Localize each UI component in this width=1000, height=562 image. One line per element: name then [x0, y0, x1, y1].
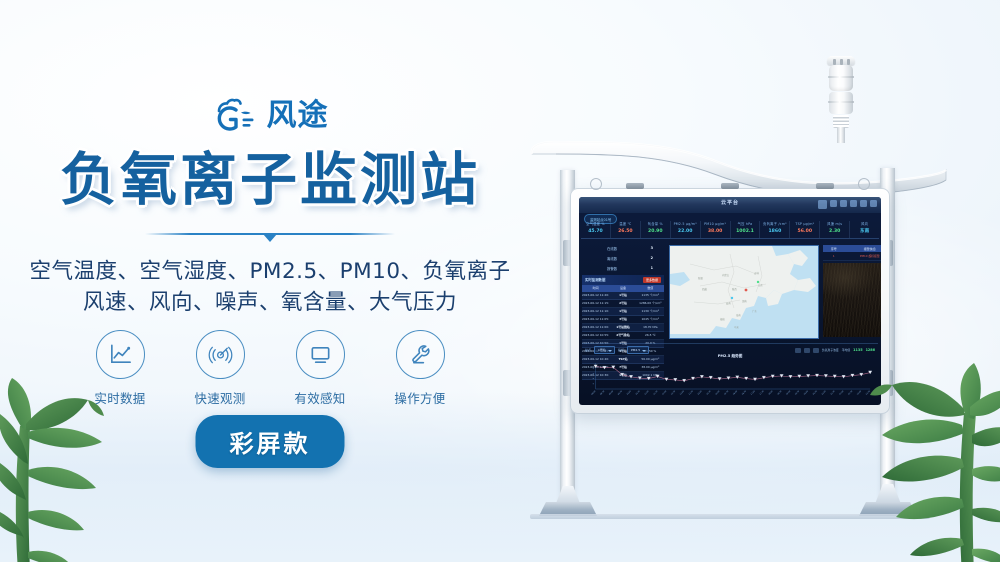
feature-label: 实时数据 — [89, 388, 151, 407]
status-value: 1 — [651, 266, 653, 271]
metric-card[interactable]: 氧含量 % 20.90 — [641, 221, 671, 238]
page-title: 负氧离子监测站 — [0, 150, 540, 212]
chart-icon[interactable] — [830, 200, 837, 207]
svg-text:22:30: 22:30 — [848, 390, 854, 396]
svg-text:陕西: 陕西 — [732, 287, 737, 291]
svg-text:22:00: 22:00 — [839, 390, 845, 396]
status-value: 3 — [651, 246, 653, 251]
left-content: 风途 负氧离子监测站 空气温度、空气湿度、PM2.5、PM10、负氧离子 风速、… — [0, 0, 540, 562]
svg-text:21:30: 21:30 — [830, 390, 836, 396]
svg-text:13:30: 13:30 — [689, 390, 695, 396]
metric-dropdown[interactable]: PM2.5 — [627, 346, 649, 354]
gear-icon[interactable] — [840, 200, 847, 207]
frame-tab — [721, 183, 739, 189]
metric-value: 22.00 — [671, 227, 700, 236]
alarm-row[interactable]: 1 PM10 超标报警 — [823, 252, 881, 261]
svg-text:新疆: 新疆 — [698, 276, 703, 280]
svg-text:14:30: 14:30 — [706, 390, 712, 396]
chart-average-value: 1286 — [866, 348, 875, 352]
table-row[interactable]: 2023-06-12 11:00:10 1号站微站 18.70 hPa — [582, 324, 664, 332]
line-chart-icon — [96, 330, 145, 379]
feature-list: 实时数据 快速观测 — [0, 330, 540, 407]
trend-chart[interactable]: 08:0008:3009:0009:3010:0010:3011:0011:30… — [586, 360, 874, 398]
table-row[interactable]: 2023-06-12 11:20:10 1号站 1135 个/cm³ — [582, 292, 664, 300]
wrench-icon — [396, 330, 445, 379]
svg-text:广东: 广东 — [752, 309, 757, 313]
metric-value: 东南 — [850, 227, 879, 236]
svg-text:17:00: 17:00 — [751, 390, 757, 396]
metric-value: 1002.1 — [731, 227, 760, 236]
status-summary: 在线数 3 离线数 2 报警数 1 — [585, 243, 661, 274]
svg-text:19:00: 19:00 — [786, 390, 792, 396]
svg-text:09:00: 09:00 — [609, 390, 615, 396]
metric-card[interactable]: 风速 m/s 2.30 — [820, 221, 850, 238]
svg-text:内蒙古: 内蒙古 — [722, 273, 730, 277]
table-columns: 时间 设备 数值 — [582, 285, 664, 292]
metrics-divider — [581, 238, 879, 239]
feature-label: 有效感知 — [289, 388, 351, 407]
feature-item-effective-sensing[interactable]: 有效感知 — [289, 330, 351, 407]
svg-text:山东: 山东 — [758, 283, 763, 287]
svg-text:08:00: 08:00 — [591, 390, 597, 396]
subtitle-line-2: 风速、风向、噪声、氧含量、大气压力 — [0, 287, 540, 318]
divider-triangle-icon — [263, 234, 277, 242]
monitoring-station-kiosk: 云平台 监测站点01号 空气湿度 % 45.70 温度 ℃ — [500, 40, 970, 540]
status-label: 报警数 — [607, 266, 617, 271]
metric-value: 20.90 — [641, 227, 670, 236]
alarm-icon[interactable] — [860, 200, 867, 207]
model-badge-label: 彩屏款 — [230, 430, 311, 458]
feature-label: 快速观测 — [189, 388, 251, 407]
svg-text:18:30: 18:30 — [777, 390, 783, 396]
ground-line — [530, 514, 930, 519]
svg-text:11:00: 11:00 — [644, 390, 650, 396]
svg-text:11:30: 11:30 — [653, 390, 659, 396]
subtitle-line-1: 空气温度、空气湿度、PM2.5、PM10、负氧离子 — [0, 256, 540, 287]
model-badge[interactable]: 彩屏款 — [196, 415, 345, 468]
column-header: 时间 — [582, 285, 609, 292]
table-header: 实时监测数据 更多数据 — [582, 275, 664, 285]
chart-filter-label: 指标 — [618, 348, 624, 352]
svg-text:19:30: 19:30 — [795, 390, 801, 396]
site-camera-feed[interactable] — [823, 263, 881, 337]
table-row[interactable]: 2023-06-12 10:55:10 2号气象站 26.5 ℃ — [582, 332, 664, 340]
svg-text:吉林: 吉林 — [754, 271, 759, 275]
distribution-map[interactable]: 新疆内蒙古 西藏陕西 吉林山东 云南湖南 广东海南 缅甸马来 — [669, 245, 819, 339]
frame-tab — [816, 183, 834, 189]
cloud-g-leaf-logo-icon — [212, 98, 258, 134]
status-row: 在线数 3 — [585, 243, 661, 253]
svg-text:14:00: 14:00 — [697, 390, 703, 396]
promo-banner: 风途 负氧离子监测站 空气温度、空气湿度、PM2.5、PM10、负氧离子 风速、… — [0, 0, 1000, 562]
svg-text:12:00: 12:00 — [662, 390, 668, 396]
svg-text:23:30: 23:30 — [866, 390, 872, 396]
svg-text:10:00: 10:00 — [627, 390, 633, 396]
svg-text:缅甸: 缅甸 — [720, 317, 725, 321]
metric-card[interactable]: 负氧离子 /cm³ 1860 — [760, 221, 790, 238]
grid-icon[interactable] — [818, 200, 827, 209]
chart-title: PM2.5 趋势图 — [582, 354, 878, 359]
trend-chart-panel: 站点 1号站 指标 PM2.5 负氧离子浓度 平均值 1135 1286 — [582, 343, 878, 403]
screen-toolbar[interactable] — [818, 200, 877, 209]
metric-card[interactable]: TSP μg/m³ 56.00 — [790, 221, 820, 238]
column-header: 数值 — [637, 285, 664, 292]
feature-item-fast-observation[interactable]: 快速观测 — [189, 330, 251, 407]
table-row[interactable]: 2023-06-12 11:15:10 2号站 1286.00 个/cm³ — [582, 300, 664, 308]
table-row[interactable]: 2023-06-12 11:05:10 3号站 1045 个/cm³ — [582, 316, 664, 324]
svg-text:15:30: 15:30 — [724, 390, 730, 396]
svg-text:23:00: 23:00 — [857, 390, 863, 396]
radar-scan-icon — [196, 330, 245, 379]
status-row: 报警数 1 — [585, 263, 661, 273]
alarm-header: 序号 报警信息 — [823, 245, 881, 252]
exit-icon[interactable] — [870, 200, 877, 207]
subtitle: 空气温度、空气湿度、PM2.5、PM10、负氧离子 风速、风向、噪声、氧含量、大… — [0, 256, 540, 318]
display-frame: 云平台 监测站点01号 空气湿度 % 45.70 温度 ℃ — [570, 188, 890, 414]
svg-text:18:00: 18:00 — [768, 390, 774, 396]
svg-text:12:30: 12:30 — [671, 390, 677, 396]
chart-legend: 负氧离子浓度 — [822, 348, 839, 352]
feature-label: 操作方便 — [389, 388, 451, 407]
chart-current-value: 1135 — [853, 348, 862, 352]
frame-tab — [626, 183, 644, 189]
metric-value: 26.50 — [611, 227, 640, 236]
svg-text:10:30: 10:30 — [635, 390, 641, 396]
table-row[interactable]: 2023-06-12 11:10:10 1号站 1130 个/cm³ — [582, 308, 664, 316]
metric-value: 38.00 — [701, 227, 730, 236]
post-flare-right — [875, 484, 901, 504]
station-dropdown[interactable]: 1号站 — [594, 346, 615, 354]
svg-text:17:30: 17:30 — [759, 390, 765, 396]
metric-cards: 空气湿度 % 45.70 温度 ℃ 26.50 氧含量 % 20.90 PM2.… — [581, 221, 879, 238]
svg-text:20:30: 20:30 — [813, 390, 819, 396]
metric-value: 2.30 — [820, 227, 849, 236]
svg-text:西藏: 西藏 — [702, 287, 707, 291]
frame-hook-icon — [590, 178, 602, 190]
status-value: 2 — [651, 256, 653, 261]
chart-filter-label: 站点 — [585, 348, 591, 352]
weather-sensor-icon — [824, 56, 858, 138]
more-data-button[interactable]: 更多数据 — [643, 277, 661, 283]
svg-text:16:30: 16:30 — [742, 390, 748, 396]
export-icon[interactable] — [795, 348, 801, 353]
metric-value: 56.00 — [790, 227, 819, 236]
chart-legend: 平均值 — [842, 348, 850, 352]
brand-logo: 风途 — [0, 98, 540, 134]
metric-value: 45.70 — [581, 227, 610, 236]
svg-text:海南: 海南 — [736, 313, 741, 317]
svg-text:13:00: 13:00 — [680, 390, 686, 396]
svg-text:09:30: 09:30 — [618, 390, 624, 396]
status-label: 离线数 — [607, 256, 617, 261]
user-icon[interactable] — [850, 200, 857, 207]
column-header: 序号 — [823, 245, 845, 252]
svg-text:马来: 马来 — [734, 325, 739, 329]
fullscreen-icon[interactable] — [813, 348, 819, 353]
frame-hook-icon — [858, 178, 870, 190]
status-label: 在线数 — [607, 246, 617, 251]
status-row: 离线数 2 — [585, 253, 661, 263]
svg-text:08:30: 08:30 — [600, 390, 606, 396]
dashboard-screen[interactable]: 云平台 监测站点01号 空气湿度 % 45.70 温度 ℃ — [579, 197, 881, 405]
metric-card[interactable]: 风向 东南 — [850, 221, 879, 238]
feature-item-easy-operation[interactable]: 操作方便 — [389, 330, 451, 407]
svg-text:21:00: 21:00 — [821, 390, 827, 396]
metric-value: 1860 — [760, 227, 789, 236]
svg-text:云南: 云南 — [726, 301, 731, 305]
feature-item-realtime-data[interactable]: 实时数据 — [89, 330, 151, 407]
svg-text:15:00: 15:00 — [715, 390, 721, 396]
svg-text:湖南: 湖南 — [742, 299, 747, 303]
svg-text:16:00: 16:00 — [733, 390, 739, 396]
table-title: 实时监测数据 — [585, 277, 605, 282]
metric-card[interactable]: PM10 μg/m³ 38.00 — [701, 221, 731, 238]
column-header: 设备 — [609, 285, 636, 292]
brand-name: 风途 — [267, 101, 329, 131]
metric-card[interactable]: 空气湿度 % 45.70 — [581, 221, 611, 238]
svg-text:20:00: 20:00 — [804, 390, 810, 396]
metric-card[interactable]: PM2.5 μg/m³ 22.00 — [671, 221, 701, 238]
chart-actions: 负氧离子浓度 平均值 1135 1286 — [795, 348, 875, 353]
monitor-icon — [296, 330, 345, 379]
refresh-icon[interactable] — [804, 348, 810, 353]
metric-card[interactable]: 温度 ℃ 26.50 — [611, 221, 641, 238]
metric-card[interactable]: 气压 hPa 1002.1 — [731, 221, 761, 238]
title-divider — [0, 233, 540, 235]
column-header: 报警信息 — [845, 245, 881, 252]
